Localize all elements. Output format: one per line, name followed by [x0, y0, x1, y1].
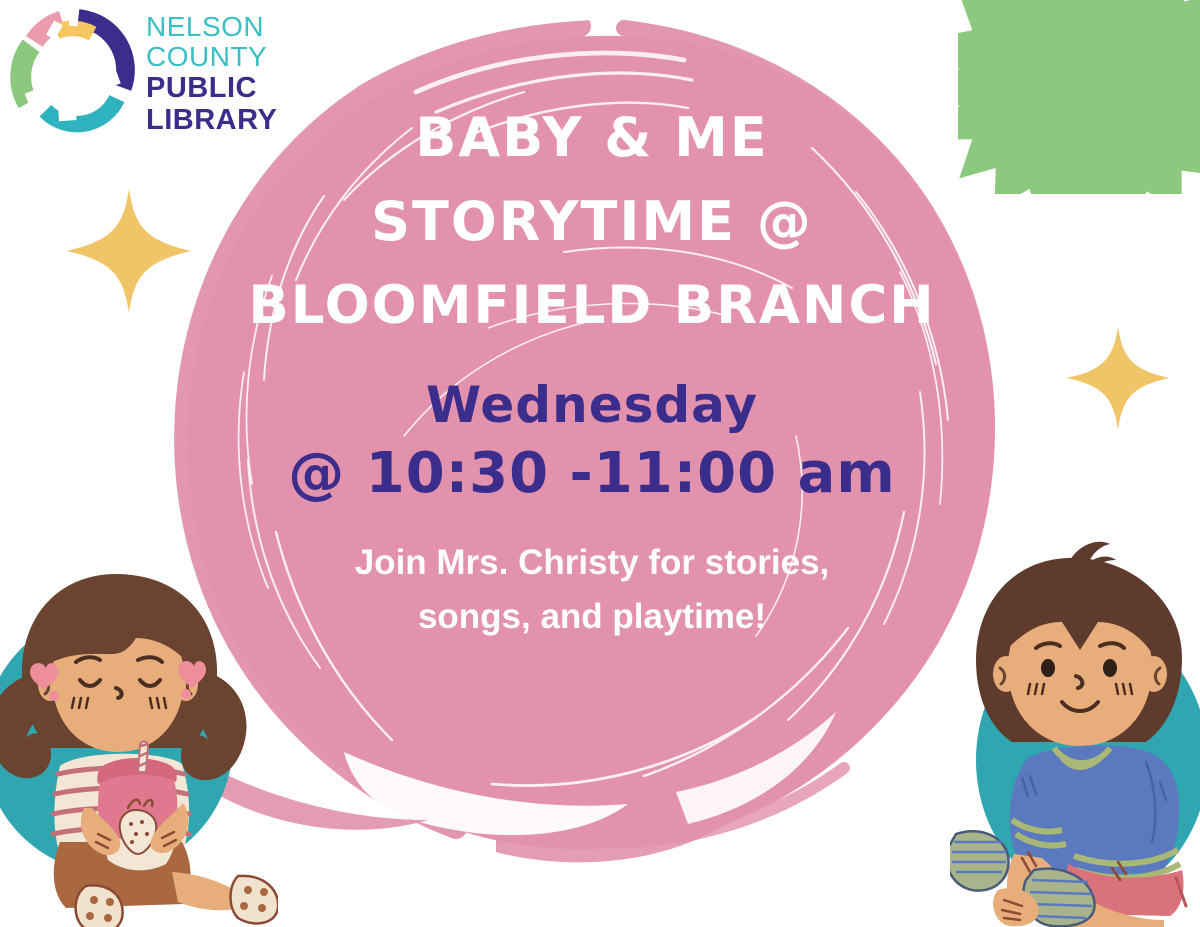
headline-line-1: BABY & ME — [232, 96, 952, 180]
event-flyer: NELSON COUNTY PUBLIC LIBRARY BABY & ME S… — [0, 0, 1200, 927]
girl-illustration — [0, 556, 278, 927]
boy-illustration — [950, 534, 1200, 927]
headline-line-2: STORYTIME @ — [232, 180, 952, 264]
schedule-block: Wednesday @ 10:30 -11:00 am — [232, 374, 952, 512]
event-day: Wednesday — [232, 374, 952, 436]
event-time: @ 10:30 -11:00 am — [232, 436, 952, 512]
description-line-1: Join Mrs. Christy for stories, — [232, 536, 952, 590]
flyer-content: BABY & ME STORYTIME @ BLOOMFIELD BRANCH … — [232, 96, 952, 644]
logo-line-county: COUNTY — [146, 42, 277, 72]
sparkle-star-icon-right — [1062, 322, 1174, 434]
description-line-2: songs, and playtime! — [232, 590, 952, 644]
event-description: Join Mrs. Christy for stories, songs, an… — [232, 536, 952, 644]
library-ring-logo-icon — [8, 4, 140, 136]
headline-line-3: BLOOMFIELD BRANCH — [232, 264, 952, 348]
logo-line-nelson: NELSON — [146, 12, 277, 42]
